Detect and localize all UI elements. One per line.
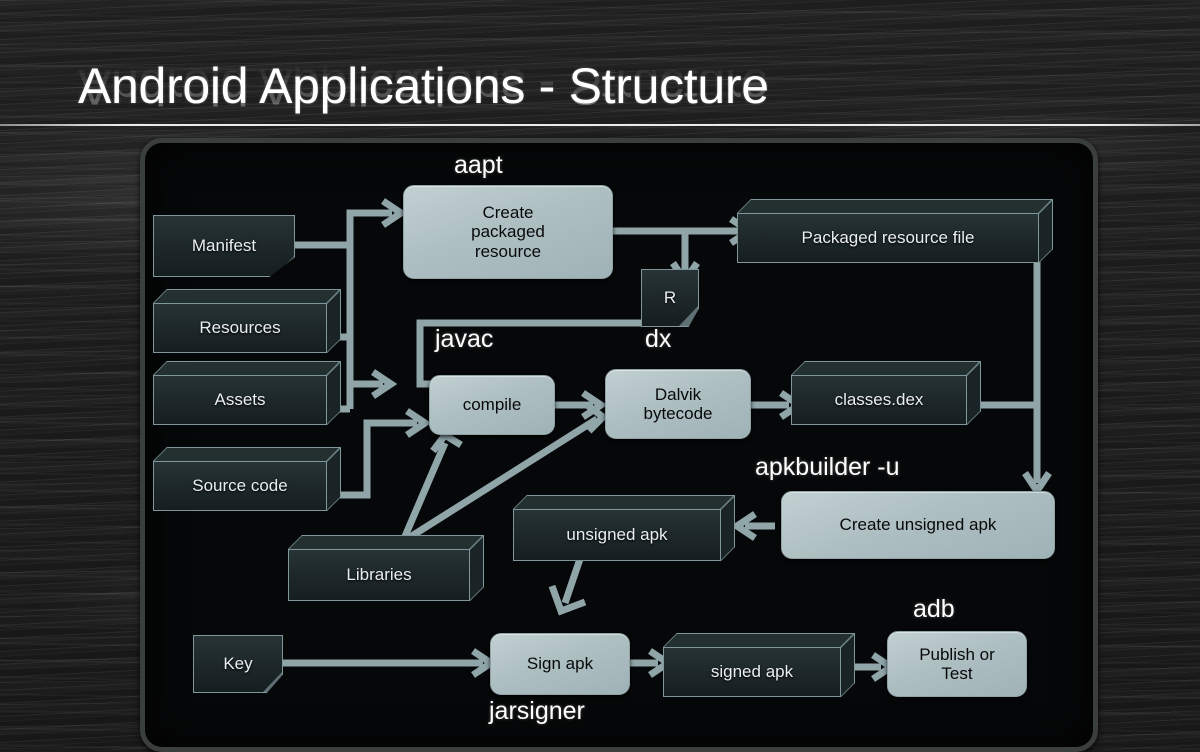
box-top-face [663, 633, 855, 647]
box-top-face [288, 535, 484, 549]
slide-header: Android Applications - Structure Android… [0, 58, 1200, 148]
artifact-signed-apk[interactable]: signed apk [663, 633, 855, 697]
node-source-code[interactable]: Source code [153, 447, 341, 511]
box-top-face [791, 361, 981, 375]
page-title: Android Applications - Structure [78, 58, 769, 114]
tool-label-dx: dx [645, 325, 671, 354]
process-create-packaged-resource[interactable]: Create packaged resource [403, 185, 613, 279]
node-key-label: Key [194, 636, 282, 692]
node-resources[interactable]: Resources [153, 289, 341, 353]
artifact-r-file[interactable]: R [641, 269, 699, 327]
process-publish-or-test[interactable]: Publish or Test [887, 631, 1027, 697]
box-top-face [513, 495, 735, 509]
process-create-unsigned-apk[interactable]: Create unsigned apk [781, 491, 1055, 559]
node-source-code-label: Source code [153, 461, 327, 511]
diagram-panel: aapt javac dx apkbuilder -u adb jarsigne… [140, 138, 1098, 752]
node-assets-label: Assets [153, 375, 327, 425]
title-divider [0, 124, 1200, 126]
process-compile-label: compile [430, 376, 554, 434]
process-dalvik-bytecode-label: Dalvik bytecode [606, 370, 750, 438]
box-top-face [153, 361, 341, 375]
node-manifest-label: Manifest [154, 216, 294, 276]
artifact-unsigned-apk-label: unsigned apk [513, 509, 721, 561]
tool-label-adb: adb [913, 595, 955, 624]
artifact-packaged-resource-file[interactable]: Packaged resource file [737, 199, 1053, 263]
node-key[interactable]: Key [193, 635, 283, 693]
box-top-face [153, 289, 341, 303]
artifact-classes-dex-label: classes.dex [791, 375, 967, 425]
box-top-face [737, 199, 1053, 213]
node-libraries-label: Libraries [288, 549, 470, 601]
box-top-face [153, 447, 341, 461]
tool-label-aapt: aapt [454, 151, 503, 180]
process-sign-apk-label: Sign apk [491, 634, 629, 694]
artifact-classes-dex[interactable]: classes.dex [791, 361, 981, 425]
tool-label-apkbuilder: apkbuilder -u [755, 453, 900, 482]
process-create-unsigned-apk-label: Create unsigned apk [782, 492, 1054, 558]
artifact-signed-apk-label: signed apk [663, 647, 841, 697]
tool-label-jarsigner: jarsigner [489, 697, 585, 726]
node-manifest[interactable]: Manifest [153, 215, 295, 277]
tool-label-javac: javac [435, 325, 493, 354]
process-sign-apk[interactable]: Sign apk [490, 633, 630, 695]
node-resources-label: Resources [153, 303, 327, 353]
artifact-packaged-resource-file-label: Packaged resource file [737, 213, 1039, 263]
process-compile[interactable]: compile [429, 375, 555, 435]
node-libraries[interactable]: Libraries [288, 535, 484, 601]
artifact-unsigned-apk[interactable]: unsigned apk [513, 495, 735, 561]
process-publish-or-test-label: Publish or Test [888, 632, 1026, 696]
diagram-stage: aapt javac dx apkbuilder -u adb jarsigne… [145, 143, 1093, 747]
node-assets[interactable]: Assets [153, 361, 341, 425]
process-dalvik-bytecode[interactable]: Dalvik bytecode [605, 369, 751, 439]
process-create-packaged-resource-label: Create packaged resource [404, 186, 612, 278]
